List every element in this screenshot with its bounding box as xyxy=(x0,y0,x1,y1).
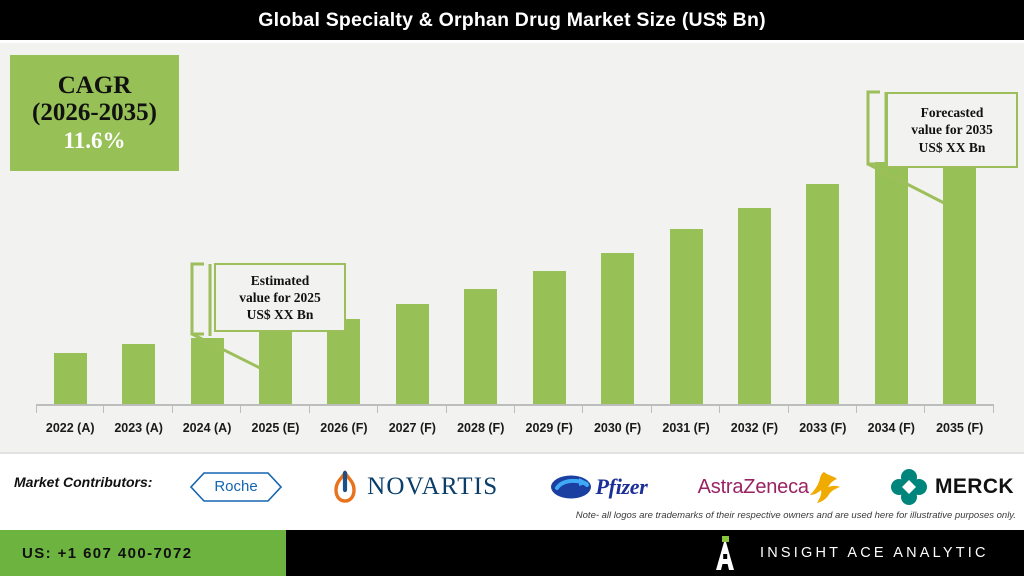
footer-brand-text: INSIGHT ACE ANALYTIC xyxy=(760,545,989,561)
bar-slot xyxy=(515,102,583,404)
x-axis-labels: 2022 (A)2023 (A)2024 (A)2025 (E)2026 (F)… xyxy=(36,416,994,440)
page-title: Global Specialty & Orphan Drug Market Si… xyxy=(258,9,766,32)
x-axis-label: 2022 (A) xyxy=(36,416,104,440)
x-axis-label: 2028 (F) xyxy=(447,416,515,440)
x-tick xyxy=(925,404,993,413)
callout-estimated-line2: value for 2025 xyxy=(239,289,321,306)
bar[interactable] xyxy=(191,338,224,404)
x-axis-label: 2035 (F) xyxy=(925,416,993,440)
bar-slot xyxy=(378,102,446,404)
logo-merck: MERCK xyxy=(891,469,1014,505)
x-tick xyxy=(720,404,788,413)
pfizer-oval-icon xyxy=(549,472,593,502)
x-tick xyxy=(652,404,720,413)
bar[interactable] xyxy=(943,129,976,404)
logo-roche: Roche xyxy=(190,472,282,502)
bar[interactable] xyxy=(533,271,566,404)
x-axis-label: 2023 (A) xyxy=(104,416,172,440)
novartis-flame-icon xyxy=(332,470,358,504)
bar[interactable] xyxy=(54,353,87,404)
x-axis-label: 2026 (F) xyxy=(310,416,378,440)
x-tick xyxy=(447,404,515,413)
logo-novartis-text: NOVARTIS xyxy=(367,473,498,501)
footer-phone-block[interactable]: US: +1 607 400-7072 xyxy=(0,530,286,576)
footer-bar: US: +1 607 400-7072 INSIGHT ACE ANALYTIC xyxy=(0,530,1024,576)
cagr-label: CAGR xyxy=(58,72,132,99)
x-axis-label: 2027 (F) xyxy=(378,416,446,440)
x-tick xyxy=(857,404,925,413)
callout-forecasted-line3: US$ XX Bn xyxy=(919,139,986,156)
merck-petals-icon xyxy=(891,469,927,505)
x-tick xyxy=(515,404,583,413)
bar-slot xyxy=(36,102,104,404)
x-tick xyxy=(789,404,857,413)
bar[interactable] xyxy=(396,304,429,404)
contributors-label: Market Contributors: xyxy=(14,474,152,490)
x-tick xyxy=(241,404,309,413)
callout-forecasted-line2: value for 2035 xyxy=(911,121,993,138)
logo-novartis: NOVARTIS xyxy=(332,470,498,504)
x-axis-label: 2034 (F) xyxy=(857,416,925,440)
x-axis-label: 2031 (F) xyxy=(652,416,720,440)
x-tick xyxy=(36,404,104,413)
callout-forecasted-line1: Forecasted xyxy=(921,104,984,121)
x-axis-label: 2025 (E) xyxy=(241,416,309,440)
logo-merck-text: MERCK xyxy=(935,475,1014,499)
x-axis-label: 2032 (F) xyxy=(720,416,788,440)
logo-pfizer-text: Pfizer xyxy=(596,474,648,500)
bar[interactable] xyxy=(601,253,634,404)
bar-slot xyxy=(583,102,651,404)
bar[interactable] xyxy=(327,319,360,404)
bar-slot xyxy=(652,102,720,404)
x-axis-ticks xyxy=(36,404,994,413)
insightace-logo-icon xyxy=(712,536,742,570)
infographic-page: Global Specialty & Orphan Drug Market Si… xyxy=(0,0,1024,576)
logo-astrazeneca-text: AstraZeneca xyxy=(698,476,809,499)
callout-forecasted-2035: Forecasted value for 2035 US$ XX Bn xyxy=(886,92,1018,168)
bar[interactable] xyxy=(738,208,771,404)
footer-phone-text: US: +1 607 400-7072 xyxy=(22,545,192,562)
callout-estimated-line3: US$ XX Bn xyxy=(247,306,314,323)
bar-slot xyxy=(173,102,241,404)
astrazeneca-emblem-icon xyxy=(807,470,841,504)
bar[interactable] xyxy=(806,184,839,404)
bar[interactable] xyxy=(259,329,292,405)
header-bar: Global Specialty & Orphan Drug Market Si… xyxy=(0,0,1024,40)
footer-brand: INSIGHT ACE ANALYTIC xyxy=(712,530,989,576)
bar-slot xyxy=(789,102,857,404)
chart-panel: CAGR (2026-2035) 11.6% 2022 (A)2023 (A)2… xyxy=(0,40,1024,452)
bar-slot xyxy=(310,102,378,404)
bar-slot xyxy=(447,102,515,404)
bar-series xyxy=(36,102,994,404)
trademark-note: Note- all logos are trademarks of their … xyxy=(576,510,1016,521)
callout-estimated-line1: Estimated xyxy=(251,272,310,289)
x-axis-label: 2024 (A) xyxy=(173,416,241,440)
logo-pfizer: Pfizer xyxy=(549,472,648,502)
contributor-logos: Roche NOVARTIS Pfizer xyxy=(190,462,1014,512)
x-axis-label: 2029 (F) xyxy=(515,416,583,440)
x-axis-label: 2030 (F) xyxy=(583,416,651,440)
x-axis-label: 2033 (F) xyxy=(789,416,857,440)
bar[interactable] xyxy=(122,344,155,404)
bar-slot xyxy=(241,102,309,404)
x-tick xyxy=(104,404,172,413)
x-tick xyxy=(173,404,241,413)
callout-estimated-2025: Estimated value for 2025 US$ XX Bn xyxy=(214,263,346,332)
x-tick xyxy=(378,404,446,413)
bar[interactable] xyxy=(670,229,703,404)
bar[interactable] xyxy=(464,289,497,404)
x-tick xyxy=(310,404,378,413)
logo-astrazeneca: AstraZeneca xyxy=(698,470,841,504)
bar-slot xyxy=(104,102,172,404)
bar-slot xyxy=(720,102,788,404)
plot-area xyxy=(36,102,994,404)
bar[interactable] xyxy=(875,162,908,404)
panel-top-edge xyxy=(0,40,1024,43)
logo-roche-text: Roche xyxy=(190,472,282,502)
contributors-strip: Market Contributors: Roche NOVARTIS xyxy=(0,452,1024,532)
x-tick xyxy=(583,404,651,413)
